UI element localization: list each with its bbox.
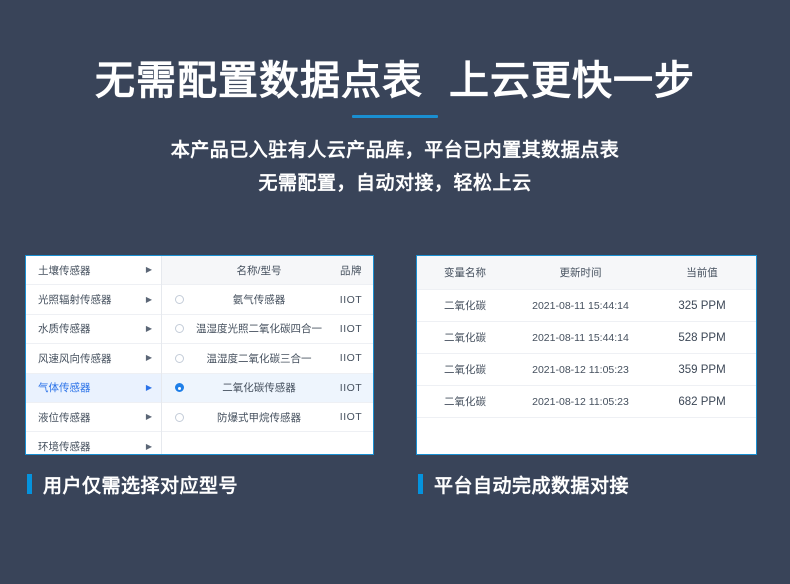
chevron-right-icon: ▶	[146, 384, 152, 392]
page-title-part2: 上云更快一步	[449, 59, 695, 103]
product-table: 名称/型号 品牌 氨气传感器 IIOT 温湿度光照二氧化碳四合一 IIOT 温湿…	[162, 256, 374, 454]
sidebar-item-label: 水质传感器	[38, 321, 146, 336]
table-row: 二氧化碳 2021-08-11 15:44:14 528 PPM	[417, 322, 756, 354]
captions-row: 用户仅需选择对应型号 平台自动完成数据对接	[0, 470, 790, 510]
device-data-panel: 变量名称 更新时间 当前值 二氧化碳 2021-08-11 15:44:14 3…	[416, 255, 757, 455]
sidebar-item-label: 气体传感器	[38, 380, 146, 395]
sidebar-item-label: 环境传感器	[38, 439, 146, 454]
radio-unchecked-icon[interactable]	[175, 324, 184, 333]
table-bottom-filler	[417, 418, 756, 426]
current-value-cell: 325 PPM	[648, 300, 756, 312]
subtitle-line-2: 无需配置，自动对接，轻松上云	[0, 167, 790, 200]
table-row[interactable]: 氨气传感器 IIOT	[162, 285, 374, 314]
chevron-right-icon: ▶	[146, 354, 152, 362]
product-brand-cell: IIOT	[322, 411, 374, 423]
radio-unchecked-icon[interactable]	[175, 354, 184, 363]
product-radio-cell[interactable]	[162, 413, 196, 422]
time-column-header: 更新时间	[513, 265, 648, 280]
radio-unchecked-icon[interactable]	[175, 413, 184, 422]
product-selection-panel: 土壤传感器 ▶ 光照辐射传感器 ▶ 水质传感器 ▶ 风速风向传感器 ▶ 气体传感…	[25, 255, 374, 455]
caption-left-text: 用户仅需选择对应型号	[43, 471, 238, 498]
current-value-cell: 682 PPM	[648, 396, 756, 408]
sidebar-item-soil[interactable]: 土壤传感器 ▶	[26, 256, 161, 285]
table-row[interactable]: 温湿度二氧化碳三合一 IIOT	[162, 344, 374, 373]
page-title: 无需配置数据点表上云更快一步	[0, 55, 790, 107]
product-name-cell: 防爆式甲烷传感器	[196, 410, 322, 425]
data-table-header: 变量名称 更新时间 当前值	[417, 256, 756, 290]
caption-right-text: 平台自动完成数据对接	[434, 471, 629, 498]
table-row[interactable]: 温湿度光照二氧化碳四合一 IIOT	[162, 315, 374, 344]
page-root: { "page": { "background_color": "#394459…	[0, 0, 790, 584]
product-brand-column-header: 品牌	[322, 263, 374, 278]
sidebar-item-liquid-level[interactable]: 液位传感器 ▶	[26, 403, 161, 432]
product-radio-cell[interactable]	[162, 324, 196, 333]
sidebar-item-label: 光照辐射传感器	[38, 292, 146, 307]
chevron-right-icon: ▶	[146, 413, 152, 421]
accent-bar-icon	[418, 474, 423, 494]
variable-name-cell: 二氧化碳	[417, 298, 513, 313]
sidebar-item-label: 液位传感器	[38, 410, 146, 425]
caption-right: 平台自动完成数据对接	[418, 470, 629, 498]
sidebar-item-label: 土壤传感器	[38, 263, 146, 278]
product-name-cell: 氨气传感器	[196, 292, 322, 307]
product-radio-cell[interactable]	[162, 383, 196, 392]
caption-left: 用户仅需选择对应型号	[27, 470, 238, 498]
hero-section: 无需配置数据点表上云更快一步 本产品已入驻有人云产品库，平台已内置其数据点表 无…	[0, 0, 790, 200]
update-time-cell: 2021-08-11 15:44:14	[513, 332, 648, 344]
sidebar-item-wind[interactable]: 风速风向传感器 ▶	[26, 344, 161, 373]
chevron-right-icon: ▶	[146, 443, 152, 451]
product-brand-cell: IIOT	[322, 352, 374, 364]
subtitle-line-1: 本产品已入驻有人云产品库，平台已内置其数据点表	[0, 134, 790, 167]
variable-name-cell: 二氧化碳	[417, 330, 513, 345]
sidebar-item-light-radiation[interactable]: 光照辐射传感器 ▶	[26, 285, 161, 314]
variable-name-cell: 二氧化碳	[417, 394, 513, 409]
value-column-header: 当前值	[648, 265, 756, 280]
chevron-right-icon: ▶	[146, 266, 152, 274]
table-row: 二氧化碳 2021-08-11 15:44:14 325 PPM	[417, 290, 756, 322]
table-row-selected[interactable]: 二氧化碳传感器 IIOT	[162, 374, 374, 403]
table-row[interactable]: 防爆式甲烷传感器 IIOT	[162, 403, 374, 432]
product-brand-cell: IIOT	[322, 323, 374, 335]
page-title-part1: 无需配置数据点表	[95, 59, 423, 103]
product-name-cell: 二氧化碳传感器	[196, 380, 322, 395]
product-brand-cell: IIOT	[322, 294, 374, 306]
product-table-header: 名称/型号 品牌	[162, 256, 374, 285]
product-radio-cell[interactable]	[162, 295, 196, 304]
table-row: 二氧化碳 2021-08-12 11:05:23 359 PPM	[417, 354, 756, 386]
current-value-cell: 359 PPM	[648, 364, 756, 376]
variable-column-header: 变量名称	[417, 265, 513, 280]
product-radio-cell[interactable]	[162, 354, 196, 363]
variable-name-cell: 二氧化碳	[417, 362, 513, 377]
radio-unchecked-icon[interactable]	[175, 295, 184, 304]
accent-bar-icon	[27, 474, 32, 494]
update-time-cell: 2021-08-12 11:05:23	[513, 396, 648, 408]
panels-row: 土壤传感器 ▶ 光照辐射传感器 ▶ 水质传感器 ▶ 风速风向传感器 ▶ 气体传感…	[0, 255, 790, 455]
sidebar-item-label: 风速风向传感器	[38, 351, 146, 366]
product-brand-cell: IIOT	[322, 382, 374, 394]
radio-checked-icon[interactable]	[175, 383, 184, 392]
sidebar-item-gas[interactable]: 气体传感器 ▶	[26, 374, 161, 403]
chevron-right-icon: ▶	[146, 325, 152, 333]
product-name-cell: 温湿度二氧化碳三合一	[196, 351, 322, 366]
update-time-cell: 2021-08-11 15:44:14	[513, 300, 648, 312]
chevron-right-icon: ▶	[146, 296, 152, 304]
product-name-column-header: 名称/型号	[196, 263, 322, 278]
table-row: 二氧化碳 2021-08-12 11:05:23 682 PPM	[417, 386, 756, 418]
sidebar-item-water-quality[interactable]: 水质传感器 ▶	[26, 315, 161, 344]
current-value-cell: 528 PPM	[648, 332, 756, 344]
sensor-category-list[interactable]: 土壤传感器 ▶ 光照辐射传感器 ▶ 水质传感器 ▶ 风速风向传感器 ▶ 气体传感…	[26, 256, 162, 454]
product-name-cell: 温湿度光照二氧化碳四合一	[196, 321, 322, 336]
title-underline-rule	[352, 115, 438, 118]
sidebar-item-environment[interactable]: 环境传感器 ▶	[26, 432, 161, 455]
update-time-cell: 2021-08-12 11:05:23	[513, 364, 648, 376]
